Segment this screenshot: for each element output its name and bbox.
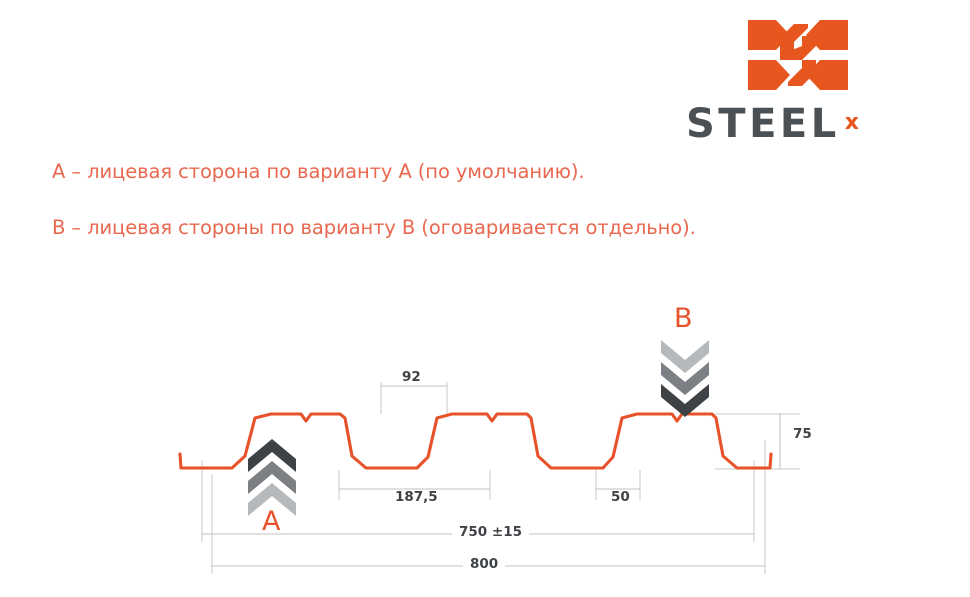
dimension-label-effective-width: 750 ±15 (452, 526, 529, 540)
dimension-label-crest-width: 92 (397, 371, 426, 385)
face-marker-b-label: B (674, 305, 693, 332)
face-marker-a-label: A (262, 508, 280, 535)
dimension-label-pitch: 187,5 (390, 491, 443, 505)
face-marker-a-chevrons (248, 439, 296, 516)
dimension-label-valley-width: 50 (606, 491, 635, 505)
dimension-label-total-width: 800 (463, 558, 505, 572)
face-marker-b-chevrons (661, 340, 709, 417)
sheet-profile-path (180, 414, 771, 468)
profile-technical-drawing (0, 0, 970, 597)
dimension-label-height: 75 (789, 428, 816, 442)
